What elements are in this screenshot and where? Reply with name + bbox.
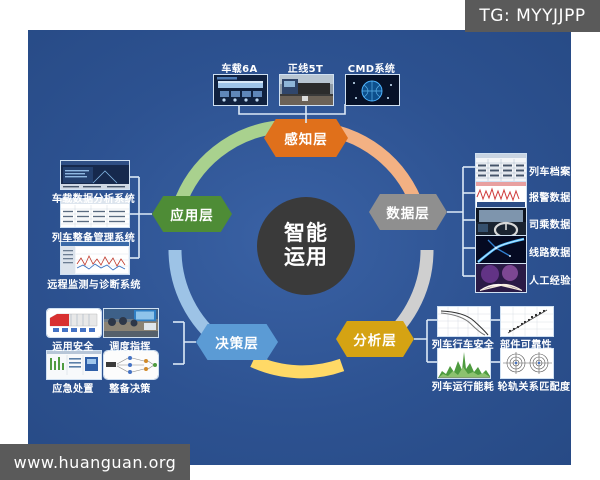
item-label-data-3: 司乘数据 <box>529 216 571 231</box>
layer-node-decision[interactable]: 决策层 <box>196 324 278 360</box>
item-label-decision-4: 整备决策 <box>99 380 161 395</box>
item-label-data-5: 人工经验知识库 <box>529 272 600 287</box>
center-title: 智能 运用 <box>257 197 355 295</box>
diagram-screenshot: 智能 运用 感知层 数据层 分析层 决策层 应用层 <box>0 0 600 480</box>
thumb-locomotive-photo[interactable] <box>279 74 334 106</box>
item-label-decision-3: 应急处置 <box>42 380 104 395</box>
thumb-scatter-plot[interactable] <box>500 306 554 337</box>
thumb-track-map[interactable] <box>475 235 527 265</box>
layer-node-analysis-label: 分析层 <box>353 329 397 349</box>
thumb-train-schematic[interactable] <box>46 308 102 338</box>
thumb-control-room-photo[interactable] <box>103 308 159 338</box>
arc-analysis-to-decision <box>253 361 342 372</box>
item-label-application-2: 列车整备管理系统 <box>41 229 146 244</box>
thumb-decay-curve-chart[interactable] <box>437 306 491 337</box>
layer-node-sense[interactable]: 感知层 <box>264 119 348 157</box>
center-title-line1: 智能 <box>284 222 328 246</box>
item-label-decision-2: 调度指挥 <box>99 338 161 353</box>
thumb-analysis-software[interactable] <box>60 160 130 190</box>
item-label-analysis-1: 列车行车安全 <box>429 336 497 351</box>
arc-application-to-sense <box>179 127 278 206</box>
layer-node-analysis[interactable]: 分析层 <box>336 321 414 357</box>
thumb-open-book[interactable] <box>475 263 527 293</box>
tg-watermark-text: TG: MYYJJPP <box>479 6 585 26</box>
item-label-application-1: 车载数据分析系统 <box>41 190 146 205</box>
item-label-analysis-3: 列车运行能耗 <box>427 378 499 393</box>
item-label-analysis-4: 轮轨关系匹配度 <box>494 378 574 393</box>
thumb-dashboard-panel[interactable] <box>46 350 102 380</box>
item-label-sense-3: CMD系统 <box>340 60 403 75</box>
tg-watermark-tag: TG: MYYJJPP <box>465 0 600 32</box>
layer-node-application[interactable]: 应用层 <box>152 196 232 232</box>
item-label-decision-1: 运用安全 <box>42 338 104 353</box>
thumb-alarm-waveform[interactable] <box>475 181 527 209</box>
item-label-data-1: 列车档案 <box>529 163 571 178</box>
item-label-data-2: 报警数据 <box>529 189 571 204</box>
item-label-analysis-2: 部件可靠性 <box>494 336 558 351</box>
site-watermark-tag: www.huanguan.org <box>0 444 190 480</box>
item-label-data-4: 线路数据 <box>529 244 571 259</box>
layer-node-decision-label: 决策层 <box>215 332 259 352</box>
layer-node-application-label: 应用层 <box>170 204 214 224</box>
layer-node-data[interactable]: 数据层 <box>369 194 447 230</box>
thumb-cab-view[interactable] <box>475 207 527 237</box>
thumb-globe-network[interactable] <box>345 74 400 106</box>
thumb-train-diagram[interactable] <box>213 74 268 106</box>
thumb-wheel-rail-diagram[interactable] <box>500 348 554 379</box>
thumb-energy-spectrum[interactable] <box>437 348 491 379</box>
layer-node-data-label: 数据层 <box>386 202 430 222</box>
center-title-line2: 运用 <box>284 246 328 270</box>
item-label-sense-2: 正线5T <box>279 60 332 75</box>
thumb-spreadsheet[interactable] <box>475 153 527 183</box>
thumb-flow-network[interactable] <box>103 350 159 380</box>
site-watermark-text: www.huanguan.org <box>14 453 177 472</box>
layer-node-sense-label: 感知层 <box>284 128 328 148</box>
item-label-sense-1: 车载6A <box>213 60 266 75</box>
thumb-monitoring-waveform[interactable] <box>60 241 130 275</box>
item-label-application-3: 远程监测与诊断系统 <box>35 276 153 291</box>
